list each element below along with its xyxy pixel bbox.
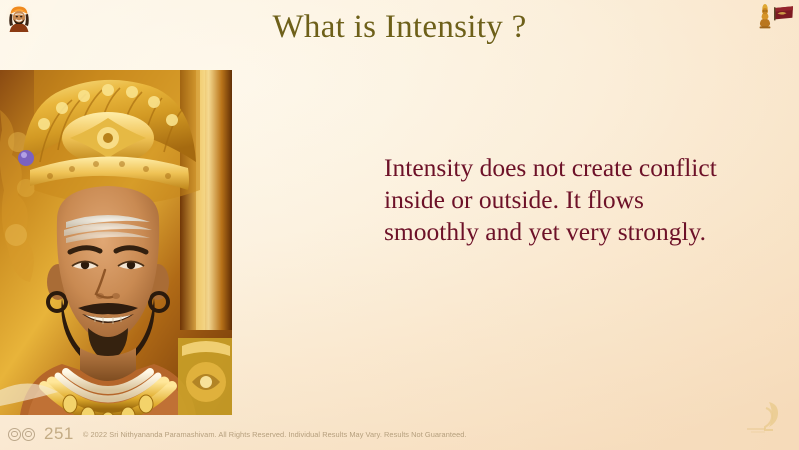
creative-commons-icon	[8, 428, 21, 441]
presentation-slide: What is Intensity ?	[0, 0, 799, 450]
guru-portrait-photo	[0, 70, 232, 415]
guru-portrait-logo-icon	[4, 2, 34, 32]
deity-emblem-with-flag-icon	[755, 2, 795, 30]
creative-commons-icons	[8, 428, 35, 441]
creative-commons-attribution-icon	[22, 428, 35, 441]
gold-monogram-watermark-icon	[739, 396, 785, 436]
slide-title: What is Intensity ?	[0, 8, 799, 46]
slide-body-text: Intensity does not create conflict insid…	[384, 152, 736, 248]
page-number: 251	[44, 424, 74, 444]
copyright-notice: © 2022 Sri Nithyananda Paramashivam. All…	[83, 430, 467, 439]
slide-footer: 251 © 2022 Sri Nithyananda Paramashivam.…	[8, 424, 467, 444]
